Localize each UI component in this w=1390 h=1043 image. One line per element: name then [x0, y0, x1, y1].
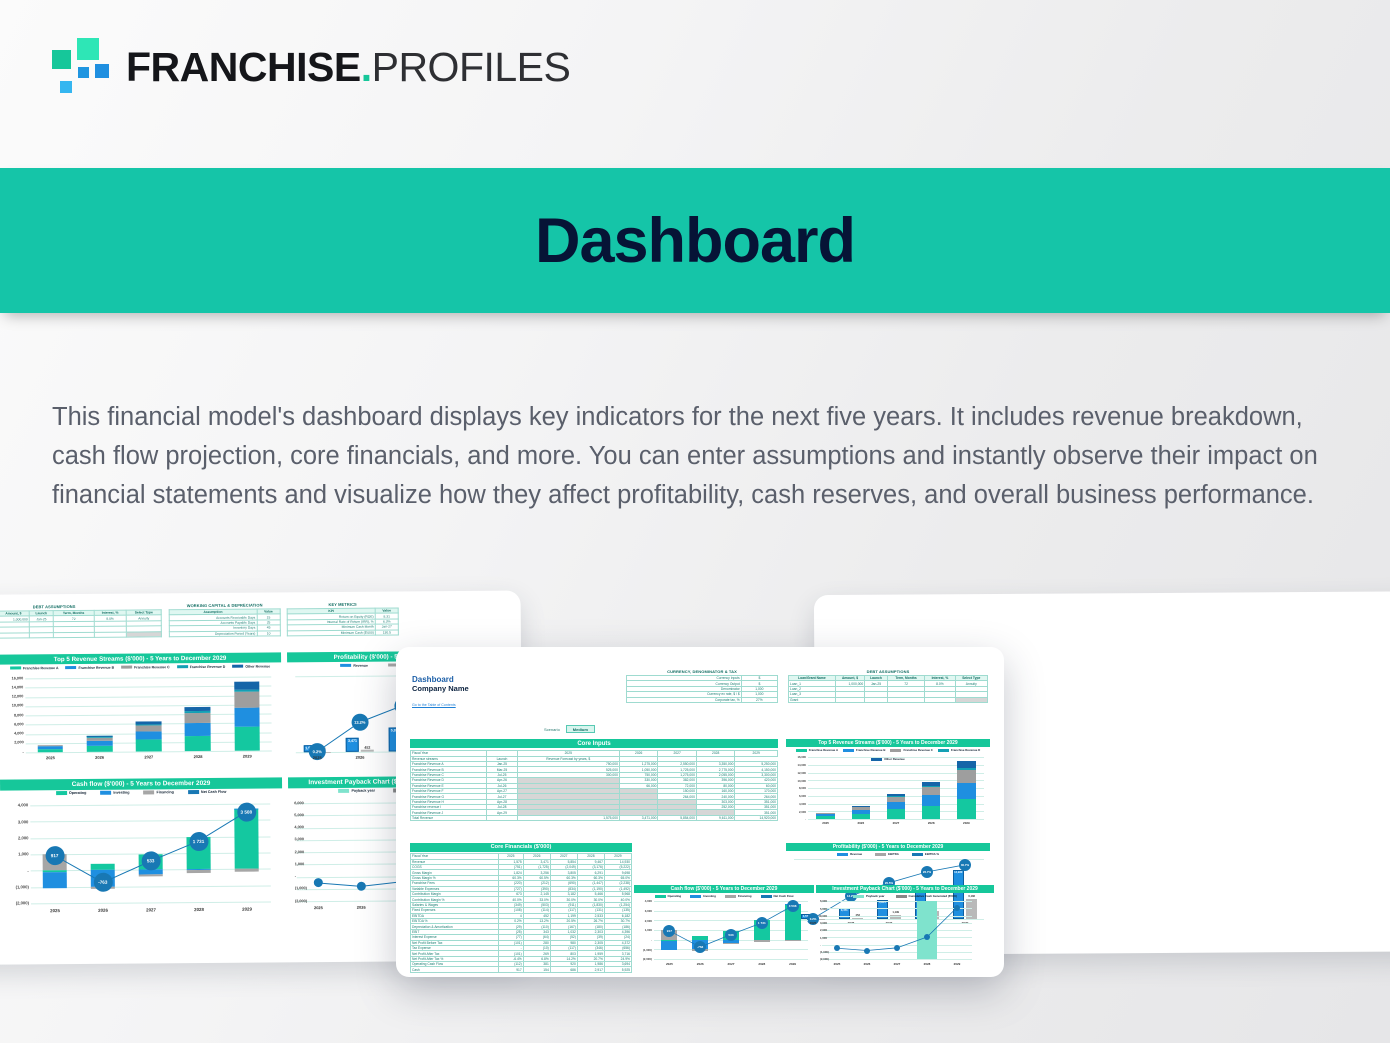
legend-label: Cumulative Cash Generated ($'000): [909, 894, 957, 898]
data-point-label: 1 731: [189, 832, 208, 851]
y-axis-tick: -: [793, 817, 806, 821]
core-inputs-table[interactable]: Fiscal Year20252026202720282029Revenue s…: [410, 750, 778, 821]
legend-label: Payback year: [351, 789, 375, 793]
legend-swatch: [338, 789, 349, 792]
y-axis-tick: 4,000: [6, 732, 24, 736]
y-axis-tick: (1,000): [641, 948, 652, 952]
data-point-label: 3 508: [237, 802, 256, 821]
intro-paragraph: This financial model's dashboard display…: [52, 398, 1344, 514]
cc-core-fin-body: Fiscal Year20252026202720282029Revenue1,…: [411, 854, 632, 973]
bar: [136, 724, 162, 726]
bar: [887, 802, 905, 809]
legend-item: Revenue: [340, 663, 368, 667]
y-axis-tick: 10,000: [5, 704, 23, 708]
top-revenue-streams-chart[interactable]: Top 5 Revenue Streams ($'000) - 5 Years …: [786, 739, 990, 837]
legend-item: Other Revenue: [232, 664, 270, 668]
legend-swatch: [340, 664, 351, 667]
data-point: [894, 945, 900, 951]
table-cell: 917: [498, 967, 523, 972]
brand-logo: FRANCHISE.PROFILES: [52, 38, 570, 96]
legend-label: Franchise Revenue B: [856, 748, 885, 752]
brand-name-bold: FRANCHISE: [126, 44, 361, 90]
x-axis-label: 2025: [808, 821, 843, 825]
table-cell: [94, 632, 127, 638]
bar: [852, 806, 870, 807]
legend-swatch: [761, 895, 772, 897]
legend-label: Franchise Revenue A: [23, 666, 58, 670]
chart-legend: OperatingInvestingFinancingNet Cash Flow: [634, 894, 814, 898]
legend-label: Investing: [703, 894, 716, 898]
table-cell: Total Revenue: [411, 815, 487, 820]
data-point: [864, 948, 870, 954]
x-axis-label: 2026: [852, 962, 882, 966]
bar: [816, 814, 834, 816]
legend-item: Franchise Revenue C: [121, 665, 170, 669]
bar: [957, 783, 975, 799]
card-title: Dashboard: [412, 675, 469, 684]
gridline: [808, 757, 984, 758]
y-axis-tick: -: [6, 750, 24, 754]
legend-swatch: [912, 853, 923, 855]
investment-payback-chart-card[interactable]: Investment Payback Chart ($'000) - 5 Yea…: [816, 885, 994, 977]
working-capital-table[interactable]: AssumptionValue Accounts Receivable Days…: [169, 608, 281, 637]
legend-swatch: [890, 749, 901, 751]
legend-item: Franchise Revenue B: [65, 665, 114, 669]
data-point-label: 30.7%: [959, 859, 971, 871]
data-point-label: 917: [45, 846, 64, 865]
y-axis-tick: 3,000: [12, 819, 28, 824]
data-point-label: 533: [141, 851, 160, 870]
x-axis-label: 2029: [942, 962, 972, 966]
y-axis-tick: 14,000: [793, 763, 806, 767]
legend-swatch: [188, 790, 199, 793]
cash-flow-chart-card[interactable]: Cash flow ($'000) - 5 Years to December …: [634, 885, 814, 977]
legend-item: Franchise Revenue A: [796, 748, 838, 752]
legend-item: Financing: [725, 894, 752, 898]
bar: [185, 723, 211, 736]
table-cell: 154: [523, 967, 550, 972]
table-cell: [487, 815, 517, 820]
bar: [922, 786, 940, 788]
table-row[interactable]: Minimum Cash ($'000)130.5: [287, 630, 398, 636]
y-axis-tick: 4,000: [12, 803, 28, 808]
x-axis-label: 2028: [746, 962, 777, 966]
bar: [38, 745, 64, 747]
data-point-label: 533: [725, 929, 737, 941]
table-row[interactable]: Corporate tax, %27%: [627, 697, 778, 702]
y-axis-tick: -: [641, 938, 652, 942]
legend-label: Payback year: [866, 894, 884, 898]
y-axis-tick: 8,000: [793, 786, 806, 790]
legend-label: EBITDA: [888, 852, 899, 856]
legend-item: Franchise Revenue B: [843, 748, 885, 752]
chart-title: Profitability ($'000) - 5 Years to Decem…: [786, 843, 990, 851]
card-company-name: Company Name: [412, 684, 469, 693]
key-metrics-table[interactable]: KPIValue Return on Equity (ROE)8.31Inter…: [287, 607, 399, 636]
legend-item: Cumulative Cash Generated ($'000): [896, 894, 957, 898]
table-cell: [126, 631, 161, 637]
y-axis-tick: (2,000): [13, 901, 29, 906]
legend-swatch: [938, 749, 949, 751]
chart-title: Top 5 Revenue Streams ($'000) - 5 Years …: [786, 739, 990, 747]
legend-swatch: [896, 895, 907, 897]
core-financials-table[interactable]: Fiscal Year20252026202720282029Revenue1,…: [410, 853, 632, 973]
legend-label: Franchise Revenue C: [134, 665, 170, 669]
dashboard-overview-card[interactable]: Dashboard Company Name Go to the Table o…: [396, 647, 1004, 977]
legend-swatch: [100, 791, 111, 794]
table-cell: 1,575,000: [517, 815, 619, 820]
data-point-label: 3 508: [787, 900, 799, 912]
table-cell: 686: [550, 967, 577, 972]
bar: [185, 713, 211, 723]
legend-label: Investing: [113, 791, 129, 795]
y-axis-tick: 12,000: [793, 771, 806, 775]
table-row[interactable]: Contribution Margin %40.0%33.0%30.0%30.0…: [411, 897, 632, 902]
bar: [957, 768, 975, 770]
table-cell: Corporate tax, %: [627, 697, 742, 702]
table-cell: Cash: [411, 967, 499, 972]
legend-item: Payback year: [853, 894, 884, 898]
logo-squares-icon: [52, 38, 108, 96]
cc-debt-body: Loan_11,000,000Jan-25728.0%AnnuityLoan_2…: [789, 681, 988, 703]
bar: [957, 761, 975, 768]
bar: [816, 813, 834, 814]
bar: [136, 740, 162, 752]
bar: [887, 796, 905, 797]
legend-swatch: [690, 895, 701, 897]
x-axis-label: 2026: [340, 905, 383, 910]
data-point-label: 1 731: [756, 917, 768, 929]
bar: [887, 797, 905, 802]
y-axis-tick: (1,000): [13, 885, 29, 890]
legend-swatch: [837, 853, 848, 855]
legend-swatch: [177, 665, 188, 668]
table-row[interactable]: Total Revenue1,575,0003,471,0005,854,000…: [411, 815, 778, 820]
legend-label: EBITDA %: [925, 852, 939, 856]
data-point: [954, 905, 960, 911]
x-axis-label: 2029: [223, 906, 271, 911]
table-cell: Grant: [789, 697, 836, 702]
legend-swatch: [65, 666, 76, 669]
legend-item: Investing: [100, 791, 129, 795]
y-axis-tick: 2,000: [793, 810, 806, 814]
y-axis-tick: -: [13, 868, 29, 873]
plot-area: 2025202620272028202916,00014,00012,00010…: [25, 676, 272, 752]
table-cell: 3,471,000: [619, 815, 658, 820]
table-cell: 2,917: [577, 967, 604, 972]
table-row[interactable]: Grant: [789, 697, 988, 702]
bar: [185, 735, 211, 751]
x-axis-label: 2027: [878, 821, 913, 825]
data-point-label: 26.7%: [921, 866, 933, 878]
legend-item: EBITDA %: [912, 852, 939, 856]
brand-dot: .: [361, 44, 372, 90]
cash-flow-chart-left[interactable]: Cash flow ($'000) - 5 Years to December …: [0, 777, 283, 929]
table-cell: 5,925: [604, 967, 631, 972]
bar: [234, 707, 260, 726]
legend-item: Franchise Revenue D: [938, 748, 980, 752]
legend-label: Franchise Revenue D: [951, 748, 980, 752]
legend-label: Franchise Revenue B: [78, 665, 114, 669]
core-inputs-title: Core Inputs: [410, 739, 778, 748]
legend-swatch: [853, 895, 864, 897]
chart-legend: Franchise Revenue AFranchise Revenue BFr…: [0, 664, 281, 670]
chart-title: Cash flow ($'000) - 5 Years to December …: [634, 885, 814, 893]
legend-swatch: [655, 895, 666, 897]
x-axis-label: 2026: [75, 755, 124, 760]
table-cell: [835, 697, 864, 702]
plot-area: 202520262027202820296,0005,0004,0003,000…: [822, 901, 972, 959]
table-of-contents-link[interactable]: Go to the Table of Contents: [412, 703, 456, 707]
table-cell: 10: [257, 630, 281, 636]
x-axis-label: 2026: [79, 908, 127, 913]
legend-label: Net Cash Flow: [774, 894, 794, 898]
x-axis-label: 2027: [124, 754, 173, 759]
bar: [38, 746, 64, 749]
x-axis-label: 2029: [949, 821, 984, 825]
debt-assumptions-table[interactable]: Loan/Grant NameAmount, $LaunchTerm, Mont…: [0, 609, 162, 639]
brand-wordmark: FRANCHISE.PROFILES: [126, 47, 570, 88]
y-axis-tick: 10,000: [793, 779, 806, 783]
legend-label: Net Cash Flow: [201, 790, 226, 794]
legend-label: Franchise Revenue C: [903, 748, 932, 752]
chart-legend: Payback yearCumulative Cash Generated ($…: [816, 894, 994, 898]
gridline: [25, 676, 271, 678]
bar: [87, 741, 113, 746]
bar: [922, 795, 940, 806]
chart-legend: RevenueEBITDAEBITDA %: [786, 852, 990, 856]
x-axis-label: 2026: [843, 821, 878, 825]
table-cell: [54, 632, 94, 638]
y-axis-tick: 4,000: [641, 899, 652, 903]
y-axis-tick: 8,000: [5, 713, 23, 717]
chart-title: Investment Payback Chart ($'000) - 5 Yea…: [816, 885, 994, 893]
legend-item: Franchise Revenue C: [890, 748, 932, 752]
y-axis-tick: 1,000: [13, 852, 29, 857]
legend-swatch: [56, 791, 67, 794]
bar: [852, 814, 870, 819]
bar: [234, 690, 260, 692]
legend-item: Financing: [143, 790, 173, 794]
legend-item: EBITDA: [875, 852, 899, 856]
plot-area: 917-7635331 7313 50820252026202720282029…: [654, 901, 808, 959]
legend-item: Net Cash Flow: [761, 894, 794, 898]
legend-swatch: [725, 895, 736, 897]
table-cell: [0, 632, 29, 638]
x-axis-label: 2028: [173, 754, 222, 759]
legend-swatch: [875, 853, 886, 855]
data-point: [924, 934, 930, 940]
scenario-label: Scenario: [544, 727, 560, 732]
km-body: Return on Equity (ROE)8.31Internal Rate …: [287, 613, 398, 635]
legend-item: Franchise Revenue D: [177, 665, 226, 669]
bar: [922, 806, 940, 819]
legend-item: Revenue: [837, 852, 862, 856]
table-row[interactable]: Depreciation & Amortization(29)(110)(167…: [411, 924, 632, 929]
legend-item: Operating: [655, 894, 682, 898]
bar: [852, 810, 870, 814]
table-cell: 27%: [741, 697, 777, 702]
table-cell: [925, 697, 955, 702]
y-axis-tick: 12,000: [5, 695, 23, 699]
legend-swatch: [10, 666, 21, 669]
bar: [922, 787, 940, 795]
bar: [87, 737, 113, 741]
legend-label: Other Revenue: [245, 664, 270, 668]
x-axis-label: 2025: [297, 905, 340, 910]
bar: [957, 770, 975, 783]
bar: [136, 722, 162, 724]
y-axis-tick: 2,000: [641, 919, 652, 923]
y-axis-tick: 3,000: [641, 909, 652, 913]
table-row[interactable]: Grant: [0, 631, 161, 638]
chart-title: Cash flow ($'000) - 5 Years to December …: [0, 777, 282, 790]
page-banner: Dashboard: [0, 168, 1390, 313]
bar: [887, 809, 905, 819]
x-axis-label: 2028: [912, 962, 942, 966]
table-cell: [955, 697, 987, 702]
x-axis-label: 2029: [223, 753, 272, 758]
table-cell: [887, 697, 924, 702]
table-cell: Minimum Cash ($'000): [287, 630, 375, 636]
bar: [38, 749, 64, 753]
cc-currency-body: Currency Inputs$Currency Output$Denomina…: [627, 676, 778, 703]
y-axis-tick: 6,000: [793, 794, 806, 798]
data-point: [357, 882, 366, 891]
plot-area: 2025202620272028202916,00014,00012,00010…: [808, 757, 984, 819]
legend-label: Financing: [156, 790, 173, 794]
table-cell: 2029: [735, 751, 778, 756]
x-axis-label: 2025: [296, 755, 339, 760]
x-axis-label: 2028: [175, 907, 223, 912]
y-axis-tick: 16,000: [793, 755, 806, 759]
table-cell: [865, 697, 888, 702]
legend-label: Operating: [69, 791, 86, 795]
wc-body: Accounts Receivable Days15Accounts Payab…: [169, 614, 280, 636]
bar: [957, 799, 975, 819]
bar: [234, 726, 260, 750]
legend-swatch: [843, 749, 854, 751]
y-axis-tick: 16,000: [5, 676, 23, 680]
x-axis-label: 2025: [654, 962, 685, 966]
bar: [136, 726, 162, 732]
chart-legend: OperatingInvestingFinancingNet Cash Flow: [0, 789, 282, 795]
debt-assumptions-table[interactable]: Loan/Grant NameAmount, $LaunchTerm, Mont…: [788, 675, 988, 703]
legend-label: Operating: [668, 894, 682, 898]
bar: [136, 732, 162, 740]
currency-table[interactable]: Currency Inputs$Currency Output$Denomina…: [626, 675, 778, 703]
bar: [87, 746, 113, 752]
y-axis-tick: 14,000: [5, 685, 23, 689]
gridline: [822, 959, 972, 960]
x-axis-label: 2028: [914, 821, 949, 825]
y-axis-tick: (2,000): [641, 957, 652, 961]
bar: [816, 816, 834, 819]
legend-label: Franchise Revenue D: [190, 665, 226, 669]
bar: [887, 794, 905, 796]
top-revenue-streams-chart[interactable]: Top 5 Revenue Streams ($'000) - 5 Years …: [0, 652, 282, 774]
x-axis-label: 2029: [777, 962, 808, 966]
chart-title: Top 5 Revenue Streams ($'000) - 5 Years …: [0, 652, 281, 664]
bar: [922, 782, 940, 786]
y-axis-tick: 2,000: [6, 741, 24, 745]
table-cell: 5,854,000: [658, 815, 697, 820]
x-axis-label: 2027: [716, 962, 747, 966]
plot-area: 917-7635331 7313 50820252026202720282029…: [30, 803, 271, 903]
legend-item: Payback year: [338, 789, 375, 793]
bar: [185, 706, 211, 711]
legend-label: Financing: [738, 894, 752, 898]
x-axis-label: 2026: [339, 755, 382, 760]
bar: [234, 692, 260, 707]
legend-item: Franchise Revenue A: [10, 666, 58, 670]
table-row[interactable]: Cash9171546862,9175,925: [411, 967, 632, 972]
x-axis-label: 2027: [127, 907, 175, 912]
legend-swatch: [232, 665, 243, 668]
brand-name-light: PROFILES: [372, 44, 571, 90]
bar: [852, 807, 870, 810]
y-axis-tick: 1,000: [641, 928, 652, 932]
y-axis-tick: 2,000: [12, 836, 28, 841]
y-axis-tick: 4,000: [793, 802, 806, 806]
scenario-select[interactable]: Medium: [566, 725, 595, 733]
legend-swatch: [143, 791, 154, 794]
legend-item: Net Cash Flow: [188, 790, 226, 794]
core-financials-title: Core Financials ($'000): [410, 843, 632, 852]
legend-label: Revenue: [353, 663, 368, 667]
legend-swatch: [796, 749, 807, 751]
data-point-label: 13.2%: [351, 714, 368, 731]
legend-item: Operating: [56, 791, 86, 795]
bar: [234, 682, 260, 691]
x-axis-label: 2025: [26, 755, 75, 760]
table-cell: Depreciation Period (Years): [169, 631, 257, 637]
debt-body: Loan_11,000,000Jan-25728.0%AnnuityLoan_2…: [0, 615, 161, 638]
table-row[interactable]: Depreciation Period (Years)10: [169, 630, 280, 636]
bar: [185, 711, 211, 713]
legend-label: Revenue: [850, 852, 862, 856]
table-cell: 9,611,000: [696, 815, 735, 820]
x-axis-label: 2027: [882, 962, 912, 966]
data-point-label: -763: [93, 873, 112, 892]
x-axis-label: 2025: [822, 962, 852, 966]
legend-swatch: [121, 666, 132, 669]
gridline: [808, 819, 984, 820]
cc-core-inputs-body: Fiscal Year20252026202720282029Revenue s…: [411, 751, 778, 821]
legend-label: Franchise Revenue A: [809, 748, 838, 752]
table-cell: [29, 632, 53, 638]
gridline: [654, 959, 808, 960]
dashboard-preview-stage: & TAX $$1,0001,00015% DEBT ASSUMPTIONS L…: [0, 575, 1390, 1043]
x-axis-label: 2026: [685, 962, 716, 966]
table-cell: 14,920,000: [735, 815, 778, 820]
table-cell: 130.5: [375, 630, 398, 636]
x-axis-label: 2025: [31, 908, 79, 913]
page-title: Dashboard: [535, 205, 855, 277]
legend-item: Investing: [690, 894, 716, 898]
y-axis-tick: 6,000: [6, 722, 24, 726]
